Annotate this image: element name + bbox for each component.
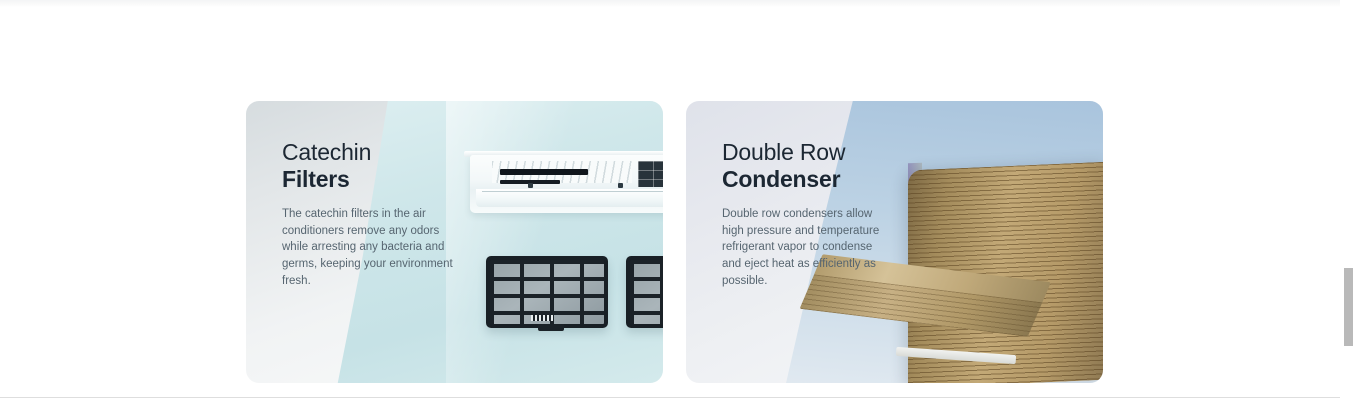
double-row-condenser-text-block: Double Row Condenser Double row condense… [722,139,898,290]
catechin-filters-title: Catechin Filters [282,139,458,193]
ac-grille-panel [638,161,663,187]
page-bottom-divider [0,397,1340,398]
vertical-scrollbar-thumb[interactable] [1344,268,1353,346]
catechin-filters-body: The catechin filters in the air conditio… [282,206,458,290]
double-row-condenser-title-line-1: Double Row [722,139,898,166]
photo-wall-shading [446,101,663,383]
ac-seam-line [482,191,663,192]
ac-vent-slot-upper [500,169,588,175]
filter-panel-left [486,256,608,328]
vertical-scrollbar-track[interactable] [1340,0,1354,396]
catechin-filters-title-line-2: Filters [282,166,458,193]
catechin-filters-text-block: Catechin Filters The catechin filters in… [282,139,458,290]
air-conditioner-unit-illustration [470,151,663,217]
double-row-condenser-title-line-2: Condenser [722,166,898,193]
catechin-filters-title-line-1: Catechin [282,139,458,166]
feature-card-double-row-condenser[interactable]: Double Row Condenser Double row condense… [686,101,1103,383]
feature-card-catechin-filters[interactable]: Catechin Filters The catechin filters in… [246,101,663,383]
filter-panels-group [486,256,663,328]
filter-panel-right [626,256,663,328]
page-top-band [0,0,1340,7]
double-row-condenser-body: Double row condensers allow high pressur… [722,206,894,290]
ac-indicator-b [618,183,623,188]
filter-panel-left-tab [531,315,553,321]
ac-indicator-a [528,183,533,188]
feature-cards-section: Catechin Filters The catechin filters in… [246,101,1103,383]
double-row-condenser-title: Double Row Condenser [722,139,898,193]
